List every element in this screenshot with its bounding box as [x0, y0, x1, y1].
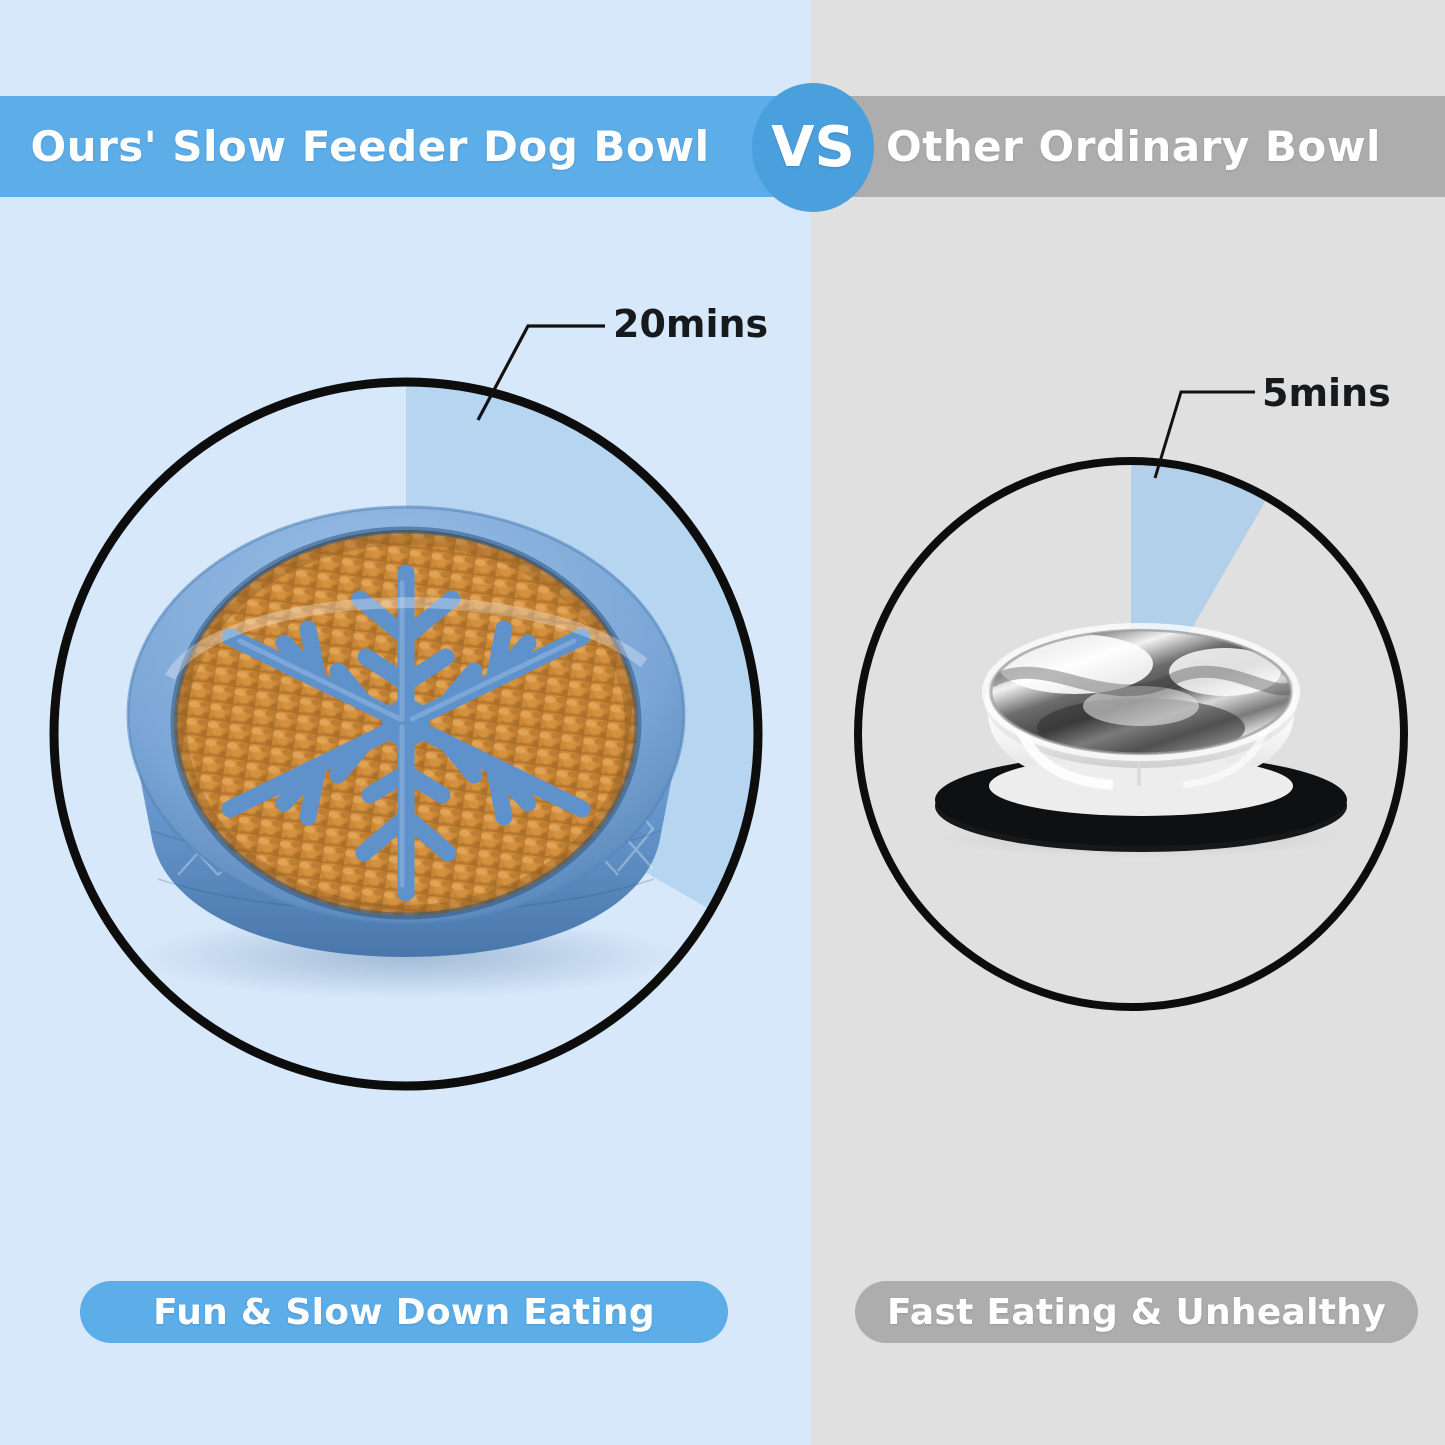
left-product-title: Ours' Slow Feeder Dog Bowl: [0, 96, 740, 197]
left-time-callout-label: 20mins: [613, 302, 768, 346]
right-product-title: Other Ordinary Bowl: [886, 96, 1406, 197]
left-benefit-caption-pill: Fun & Slow Down Eating: [80, 1281, 728, 1343]
right-drawback-caption-text: Fast Eating & Unhealthy: [887, 1292, 1386, 1333]
right-drawback-caption-pill: Fast Eating & Unhealthy: [855, 1281, 1418, 1343]
slow-feeder-dog-bowl-image: [108, 487, 704, 1007]
vs-badge: VS: [752, 83, 874, 212]
right-time-callout-label: 5mins: [1262, 371, 1391, 415]
left-benefit-caption-text: Fun & Slow Down Eating: [153, 1292, 655, 1333]
comparison-header-banner: Ours' Slow Feeder Dog Bowl Other Ordinar…: [0, 96, 1445, 197]
vs-label: VS: [771, 115, 855, 180]
infographic-canvas: Ours' Slow Feeder Dog Bowl Other Ordinar…: [0, 0, 1445, 1445]
ordinary-stainless-steel-bowl-image: [925, 610, 1357, 860]
